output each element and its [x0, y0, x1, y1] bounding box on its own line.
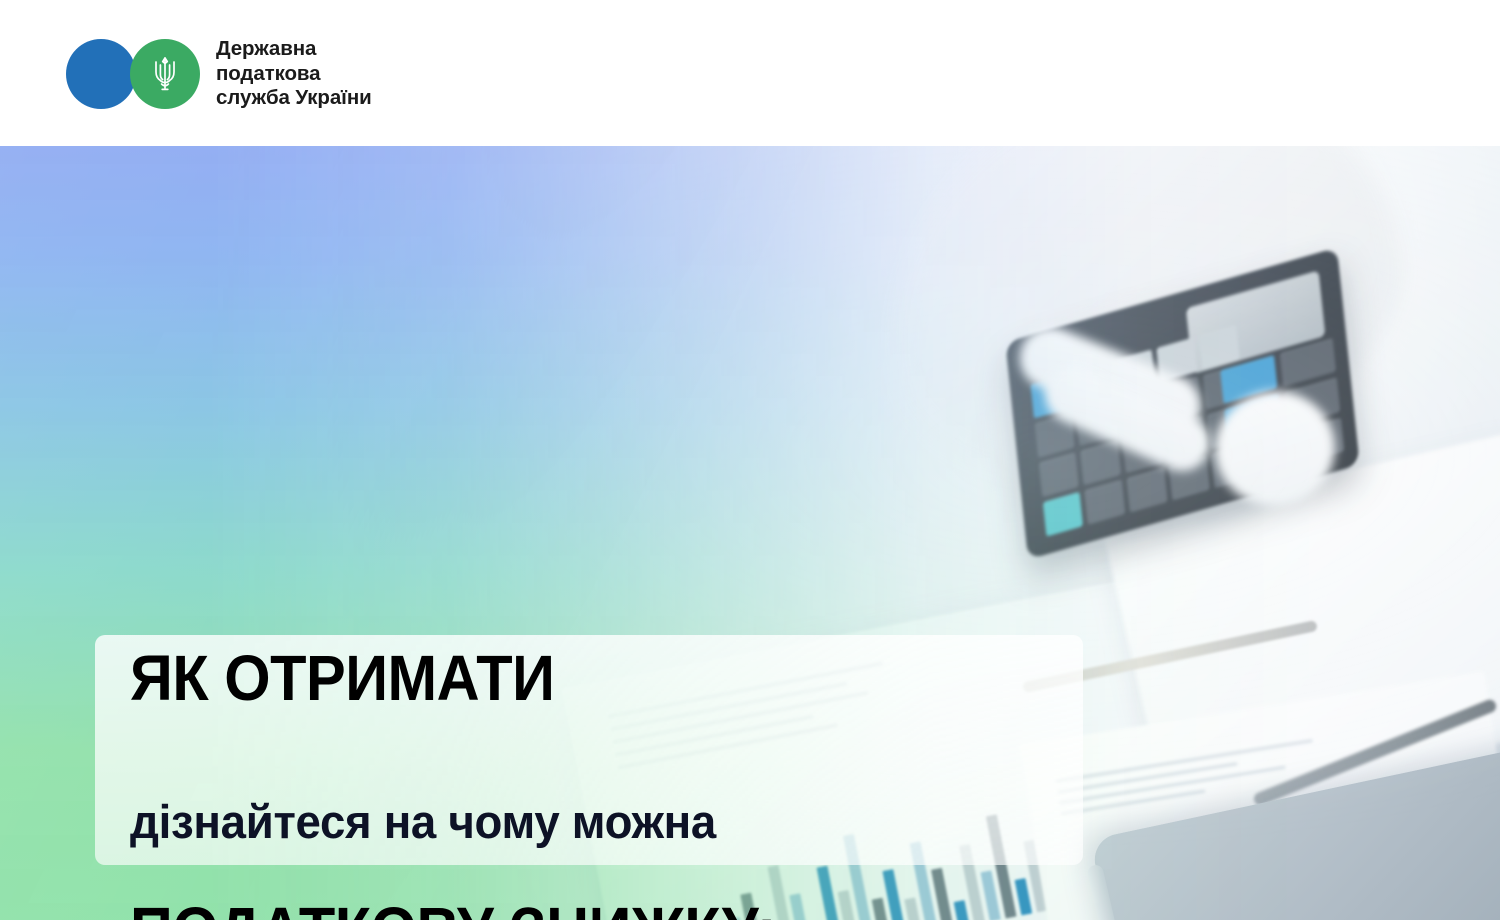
- logo-text-line-1: Державна: [216, 37, 372, 62]
- logo-marks: [66, 39, 200, 109]
- logo-text-line-3: служба України: [216, 86, 372, 111]
- organization-name: Державна податкова служба України: [216, 37, 372, 111]
- organization-logo[interactable]: Державна податкова служба України: [66, 37, 372, 111]
- page-subtitle: дізнайтеся на чому можна заощадити, заде…: [130, 652, 1042, 920]
- tax-service-promo-banner: ЯК ОТРИМАТИ ПОДАТКОВУ ЗНИЖКУ: дізнайтеся…: [0, 0, 1500, 920]
- logo-text-line-2: податкова: [216, 62, 372, 87]
- logo-circle-blue: [66, 39, 136, 109]
- ukraine-trident-icon: [130, 39, 200, 109]
- hero-image-area: ЯК ОТРИМАТИ ПОДАТКОВУ ЗНИЖКУ: дізнайтеся…: [0, 146, 1500, 920]
- subtitle-line-1: дізнайтеся на чому можна: [130, 788, 1042, 856]
- site-header: Державна податкова служба України: [0, 0, 1500, 146]
